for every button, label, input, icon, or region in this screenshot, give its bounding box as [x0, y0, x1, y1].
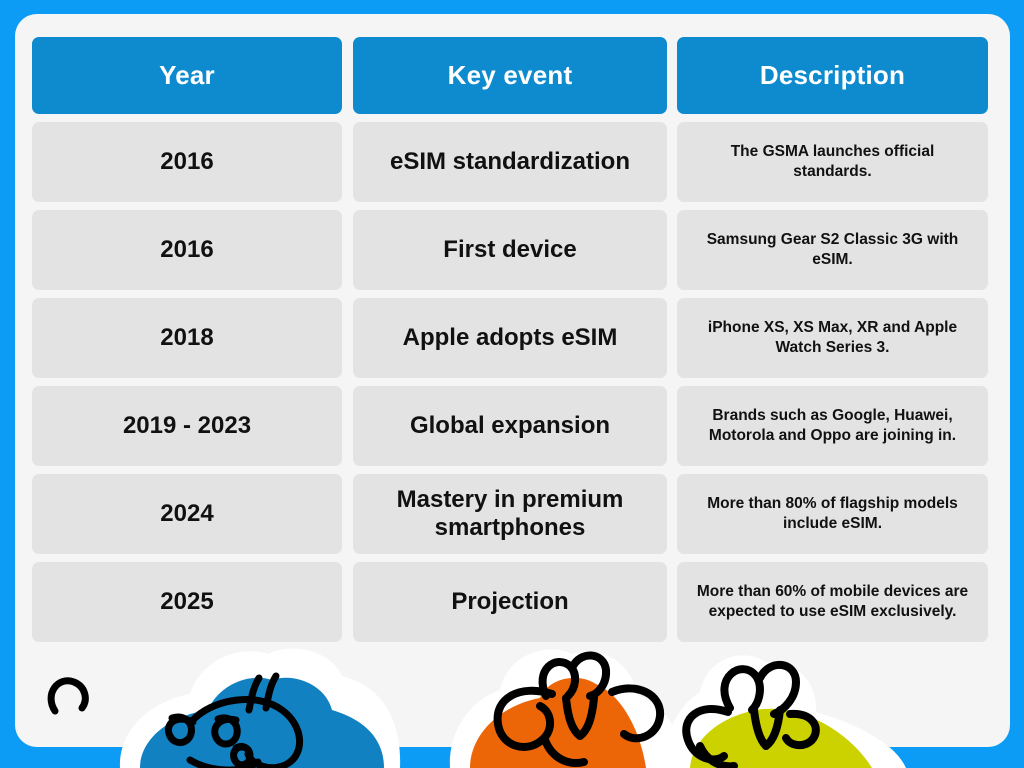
cell-key-event: First device [353, 210, 667, 290]
column-header-description: Description [677, 37, 988, 114]
cell-description: More than 80% of flagship models include… [677, 474, 988, 554]
table-row: 2019 - 2023 Global expansion Brands such… [32, 386, 988, 466]
cell-year: 2024 [32, 474, 342, 554]
cell-description: More than 60% of mobile devices are expe… [677, 562, 988, 642]
cell-description: Brands such as Google, Huawei, Motorola … [677, 386, 988, 466]
table-row: 2016 First device Samsung Gear S2 Classi… [32, 210, 988, 290]
cell-description: The GSMA launches official standards. [677, 122, 988, 202]
table-row: 2016 eSIM standardization The GSMA launc… [32, 122, 988, 202]
cell-key-event: eSIM standardization [353, 122, 667, 202]
timeline-table: Year Key event Description 2016 eSIM sta… [32, 37, 988, 650]
column-header-key-event: Key event [353, 37, 667, 114]
column-header-year: Year [32, 37, 342, 114]
table-header-row: Year Key event Description [32, 37, 988, 114]
slide-canvas: Year Key event Description 2016 eSIM sta… [0, 0, 1024, 768]
cell-description: Samsung Gear S2 Classic 3G with eSIM. [677, 210, 988, 290]
cell-year: 2018 [32, 298, 342, 378]
cell-description: iPhone XS, XS Max, XR and Apple Watch Se… [677, 298, 988, 378]
cell-year: 2025 [32, 562, 342, 642]
cell-year: 2016 [32, 122, 342, 202]
cell-year: 2019 - 2023 [32, 386, 342, 466]
cell-key-event: Projection [353, 562, 667, 642]
cell-key-event: Mastery in premium smartphones [353, 474, 667, 554]
cell-key-event: Global expansion [353, 386, 667, 466]
table-row: 2018 Apple adopts eSIM iPhone XS, XS Max… [32, 298, 988, 378]
cell-year: 2016 [32, 210, 342, 290]
content-card: Year Key event Description 2016 eSIM sta… [15, 14, 1010, 747]
table-row: 2025 Projection More than 60% of mobile … [32, 562, 988, 642]
table-row: 2024 Mastery in premium smartphones More… [32, 474, 988, 554]
cell-key-event: Apple adopts eSIM [353, 298, 667, 378]
